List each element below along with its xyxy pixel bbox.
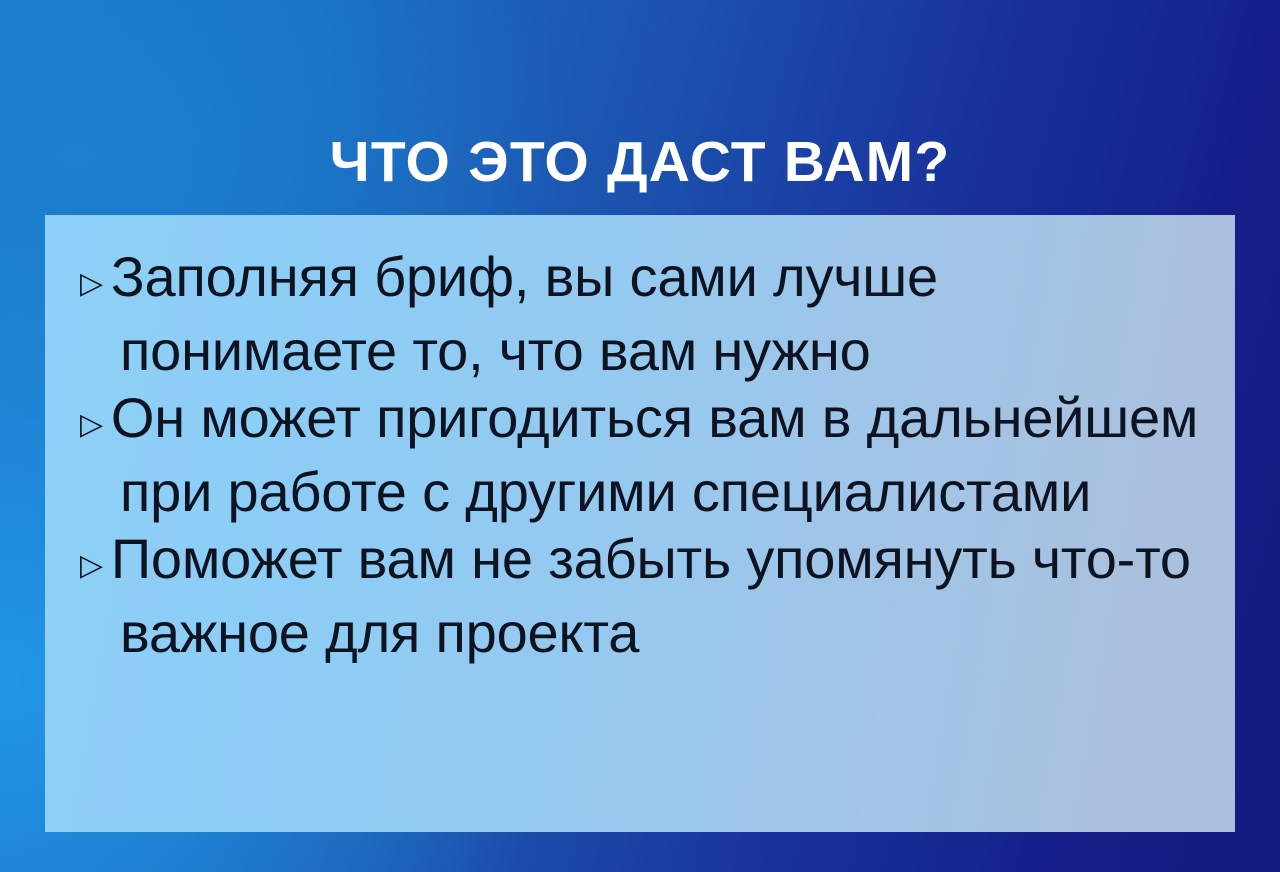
list-item: ▷Он может пригодиться вам в дальнейшем п… [80,384,1209,525]
triangle-bullet-icon: ▷ [80,549,111,582]
page-title: ЧТО ЭТО ДАСТ ВАМ? [0,134,1280,191]
list-item-text: Заполняя бриф, вы сами лучше понимаете т… [111,245,938,382]
benefits-card: ▷Заполняя бриф, вы сами лучше понимаете … [45,215,1235,832]
triangle-bullet-icon: ▷ [80,408,111,441]
list-item: ▷Заполняя бриф, вы сами лучше понимаете … [80,243,1209,384]
list-item-text: Он может пригодиться вам в дальнейшем пр… [111,386,1198,523]
slide-root: ЧТО ЭТО ДАСТ ВАМ? ▷Заполняя бриф, вы сам… [0,0,1280,872]
list-item: ▷Поможет вам не забыть упомянуть что-то … [80,525,1209,666]
benefits-list: ▷Заполняя бриф, вы сами лучше понимаете … [80,243,1209,666]
list-item-text: Поможет вам не забыть упомянуть что-то в… [111,527,1191,664]
triangle-bullet-icon: ▷ [80,267,111,300]
